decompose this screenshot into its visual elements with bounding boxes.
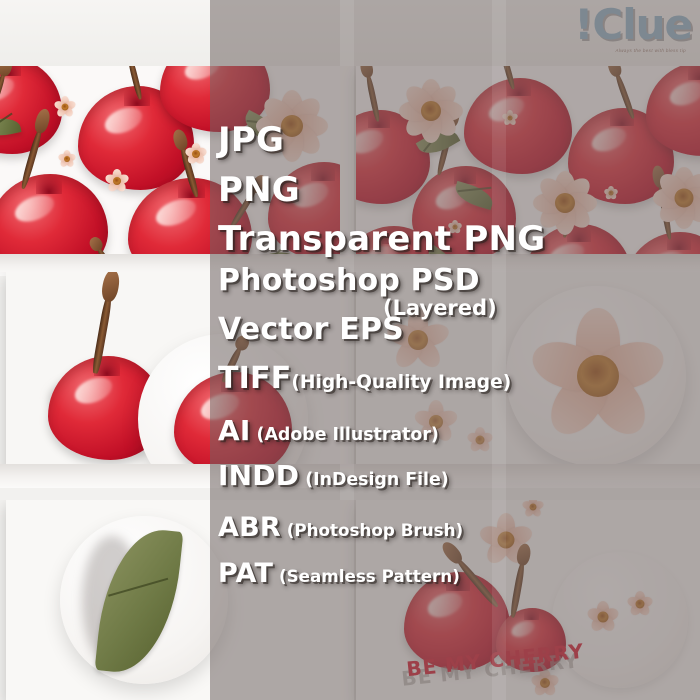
format-name: Transparent PNG [218, 219, 545, 259]
format-item-eps: Vector EPS [218, 312, 404, 347]
format-item-abr: ABR (Photoshop Brush) [218, 512, 463, 543]
format-note: (Seamless Pattern) [279, 566, 460, 586]
format-name: Vector EPS [218, 312, 404, 347]
format-name: ABR [218, 512, 281, 543]
format-item-jpg: JPG [218, 120, 284, 160]
format-item-ai: AI (Adobe Illustrator) [218, 414, 439, 447]
format-name: INDD [218, 459, 299, 492]
format-name: TIFF [218, 361, 291, 396]
poster-canvas: !Clue Always the best with bless tip [0, 0, 700, 700]
format-name: PNG [218, 170, 300, 210]
format-list: JPG PNG Transparent PNG Photoshop PSD (L… [0, 0, 700, 700]
format-name: PAT [218, 558, 273, 589]
format-item-png: PNG [218, 170, 300, 210]
format-item-pat: PAT (Seamless Pattern) [218, 558, 460, 589]
format-item-tiff: TIFF(High-Quality Image) [218, 361, 511, 396]
format-note: (Adobe Illustrator) [257, 425, 439, 445]
format-note: (High-Quality Image) [291, 372, 511, 393]
format-name: Photoshop PSD [218, 263, 480, 298]
format-note: (InDesign File) [305, 470, 449, 490]
format-name: AI [218, 414, 251, 447]
format-name: JPG [218, 120, 284, 160]
format-item-indd: INDD (InDesign File) [218, 459, 449, 492]
format-note: (Photoshop Brush) [287, 520, 463, 540]
format-item-transparent-png: Transparent PNG [218, 219, 545, 259]
format-item-psd: Photoshop PSD [218, 263, 480, 298]
